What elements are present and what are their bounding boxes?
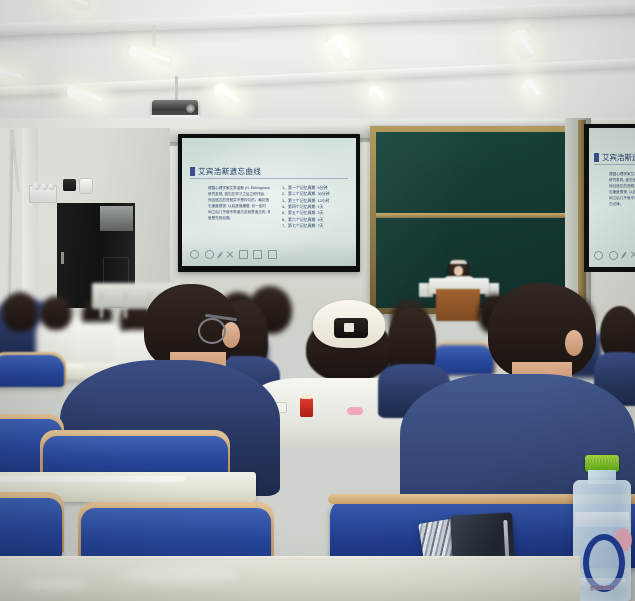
list-item: 7、第七个记忆周期: 7天 — [282, 223, 350, 229]
slide-title-bar: 艾宾浩斯遗忘曲线 — [190, 166, 261, 177]
teacher-face — [454, 266, 463, 276]
right-student-ear — [565, 330, 583, 356]
slide-title: 艾宾浩斯遗忘曲线 — [198, 166, 261, 177]
wall-column — [22, 128, 38, 318]
door-panel — [103, 257, 129, 285]
slide-body-line: 德国心理学家艾宾 — [609, 172, 635, 177]
secondary-annotation-toolbar[interactable] — [594, 251, 635, 260]
close-icon[interactable] — [630, 251, 635, 258]
slide-bullet-icon — [190, 167, 195, 176]
slide-body-line: 研究发现, 遗忘在 — [609, 178, 635, 183]
door-handle[interactable] — [61, 252, 64, 264]
bottle-label-upper — [575, 512, 629, 527]
slide-body-line: 间之后几乎就不再 — [609, 196, 635, 201]
railing-post — [100, 292, 103, 318]
projector-lens-icon — [186, 104, 195, 113]
desk-glare — [120, 566, 240, 584]
slide-body-line: 忘速度很快, 以后 — [609, 190, 635, 195]
lectern-wood-front — [436, 289, 480, 321]
circle-icon[interactable] — [594, 251, 603, 260]
slide-title-rule — [190, 178, 348, 179]
student-head-far — [40, 296, 72, 330]
slide-body-line: 忘记律。 — [609, 202, 635, 207]
screen-bottom-shadow — [182, 240, 356, 266]
desk-glare — [20, 578, 90, 590]
secondary-slide-title-bar: 艾宾浩斯遗 — [594, 152, 635, 163]
teacher-headband — [450, 260, 467, 264]
switch-knob-icon[interactable] — [48, 183, 55, 190]
wall-switch-panel[interactable] — [29, 185, 57, 203]
gear-icon[interactable] — [609, 251, 618, 260]
chair-back-mid — [0, 355, 64, 387]
slide-bullet-icon — [594, 153, 599, 162]
tshirt-graphic-pink — [347, 407, 363, 415]
secondary-slide-title: 艾宾浩斯遗 — [602, 152, 635, 163]
slide-body-line: 而且遗忘的进程并不是均匀的。最初遗 — [208, 198, 270, 203]
bottle-label-text: 蜜桃味饮料 — [578, 585, 626, 592]
slide-body-line: 忘速度很快, 以后逐渐缓慢, 也一定时 — [208, 204, 270, 209]
slide-body-line: 研究发现, 遗忘在学习之后立即开始, — [208, 192, 270, 197]
slide-body-line: 德国心理学家艾宾浩斯 (H. Ebbinghaus) — [208, 186, 270, 191]
left-student-glasses-lens — [198, 318, 226, 344]
secondary-slide-body: 德国心理学家艾宾 研究发现, 遗忘在 而且遗忘的进程并 忘速度很快, 以后 间之… — [609, 172, 635, 208]
secondary-projection-screen: 艾宾浩斯遗 德国心理学家艾宾 研究发现, 遗忘在 而且遗忘的进程并 忘速度很快,… — [589, 128, 635, 267]
pen-icon[interactable] — [621, 251, 627, 258]
slide-body-line: 就是先快后慢。 — [208, 216, 270, 221]
slide-body-line: 间之后几乎就不再遗忘这就是遗忘的, 规律 — [208, 210, 270, 215]
security-camera-icon — [63, 179, 76, 191]
railing-post — [124, 292, 127, 318]
secondary-slide-rule — [594, 164, 635, 165]
slide-memory-cycle-list: 1、第一个记忆周期: 5分钟 2、第二个记忆周期: 30分钟 3、第三个记忆周期… — [282, 185, 350, 229]
slide-body-line: 而且遗忘的进程并 — [609, 184, 635, 189]
slide-body-text: 德国心理学家艾宾浩斯 (H. Ebbinghaus) 研究发现, 遗忘在学习之后… — [208, 186, 270, 222]
classroom-photo: 艾宾浩斯遗忘曲线 德国心理学家艾宾浩斯 (H. Ebbinghaus) 研究发现… — [0, 0, 635, 601]
student-head-far — [2, 292, 38, 332]
switch-knob-icon[interactable] — [41, 183, 48, 190]
switch-knob-icon[interactable] — [33, 183, 40, 190]
speaker-icon — [79, 178, 93, 194]
light-stem — [152, 25, 156, 47]
chair-back-front-left2 — [0, 498, 62, 558]
door-window — [100, 206, 133, 231]
front-desk-surface — [0, 560, 580, 601]
tshirt-graphic-red-cup — [300, 398, 313, 417]
projection-screen: 艾宾浩斯遗忘曲线 德国心理学家艾宾浩斯 (H. Ebbinghaus) 研究发现… — [182, 138, 356, 266]
cap-buckle-icon — [344, 323, 354, 332]
